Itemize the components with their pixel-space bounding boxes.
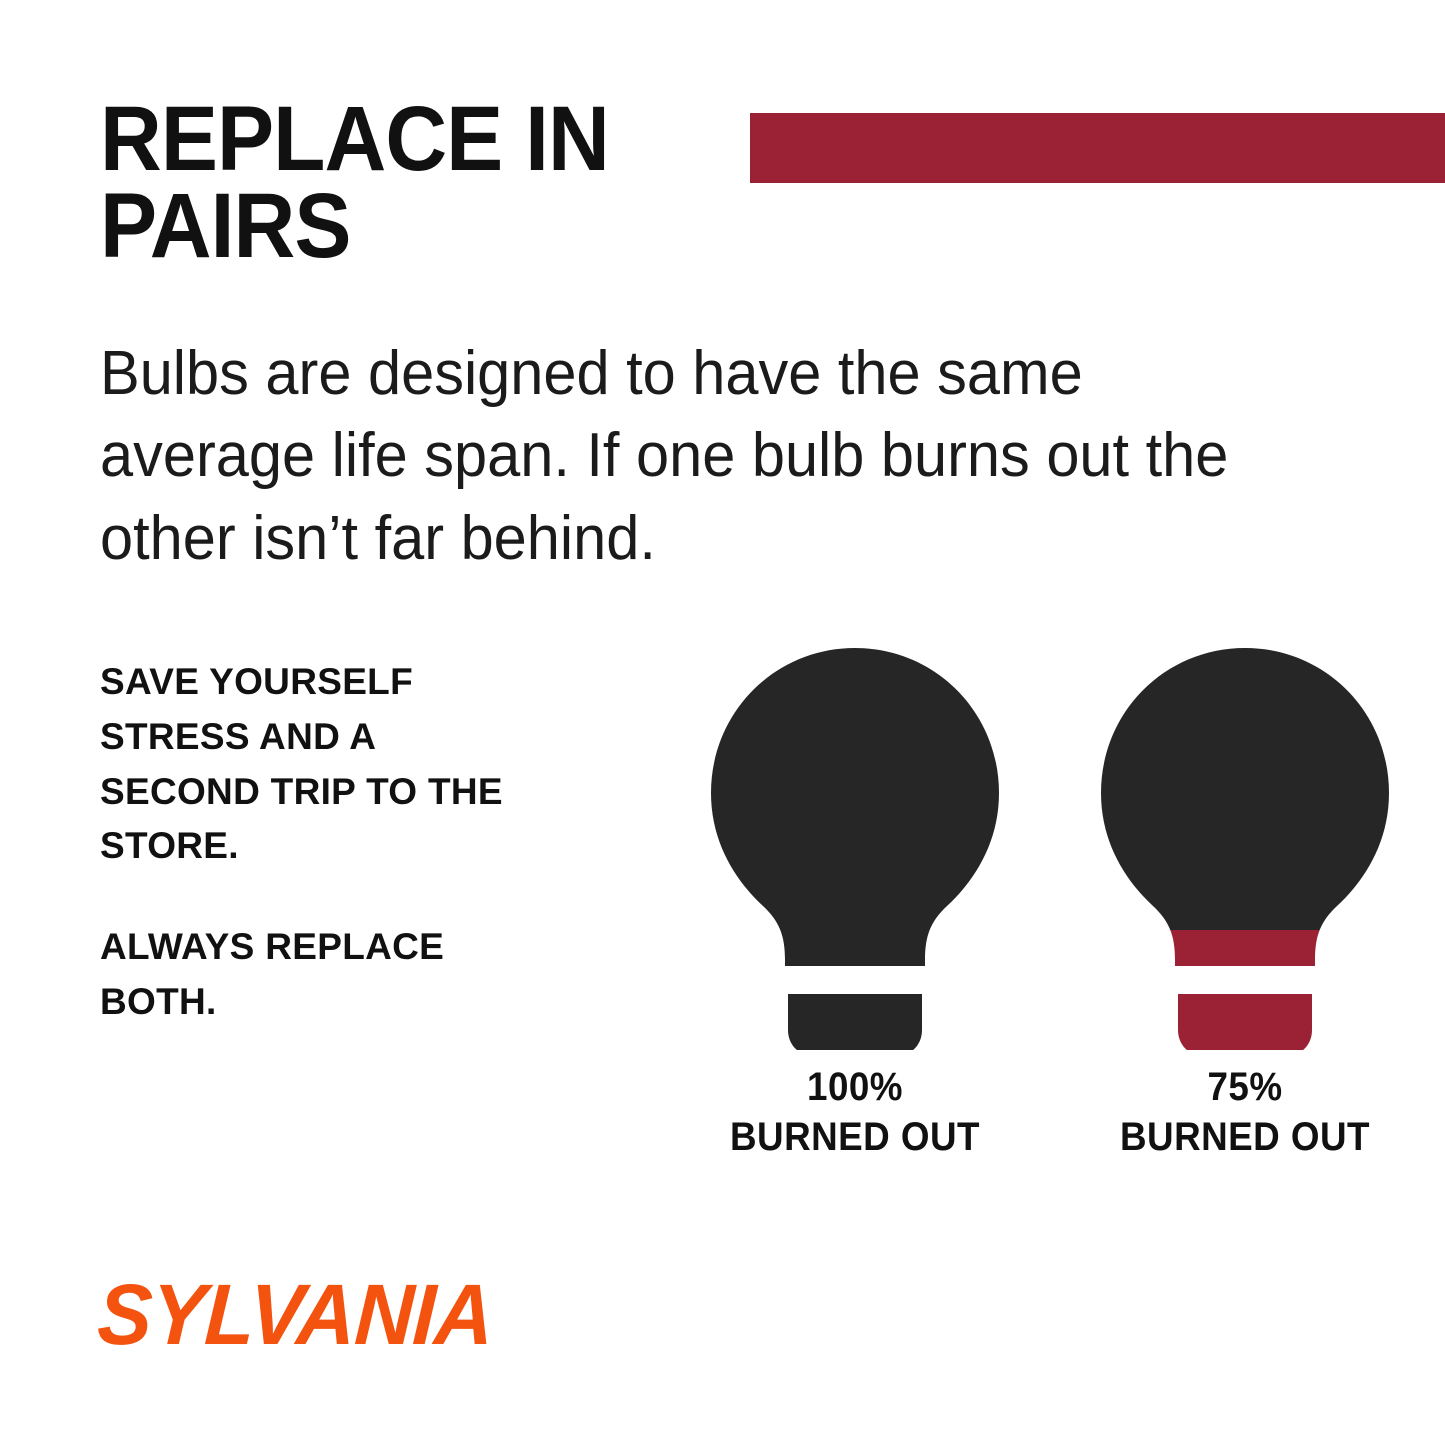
callout-save-yourself: SAVE YOURSELF STRESS AND A SECOND TRIP T… — [100, 655, 520, 874]
callout-always-replace: ALWAYS REPLACE BOTH. — [100, 920, 520, 1030]
bulb-status-100: BURNED OUT — [689, 1112, 1020, 1162]
sylvania-logo: SYLVANIA — [96, 1272, 495, 1358]
bulb-percent-100: 100% — [689, 1062, 1020, 1112]
callout-list: SAVE YOURSELF STRESS AND A SECOND TRIP T… — [100, 655, 520, 1030]
bulb-figure-75: 75% BURNED OUT — [1065, 630, 1425, 1190]
light-bulb-icon — [675, 630, 1035, 1050]
bulb-comparison: 100% BURNED OUT — [640, 630, 1445, 1190]
infographic-page: REPLACE IN PAIRS Bulbs are designed to h… — [0, 0, 1445, 1445]
light-bulb-icon — [1065, 630, 1425, 1050]
bulb-status-75: BURNED OUT — [1079, 1112, 1410, 1162]
bulb-percent-75: 75% — [1079, 1062, 1410, 1112]
header-accent-bar — [750, 113, 1445, 183]
page-title: REPLACE IN PAIRS — [100, 96, 714, 271]
intro-paragraph: Bulbs are designed to have the same aver… — [100, 333, 1262, 580]
bulb-figure-100: 100% BURNED OUT — [675, 630, 1035, 1190]
bulb-caption-75: 75% BURNED OUT — [1079, 1062, 1410, 1162]
bulb-caption-100: 100% BURNED OUT — [689, 1062, 1020, 1162]
